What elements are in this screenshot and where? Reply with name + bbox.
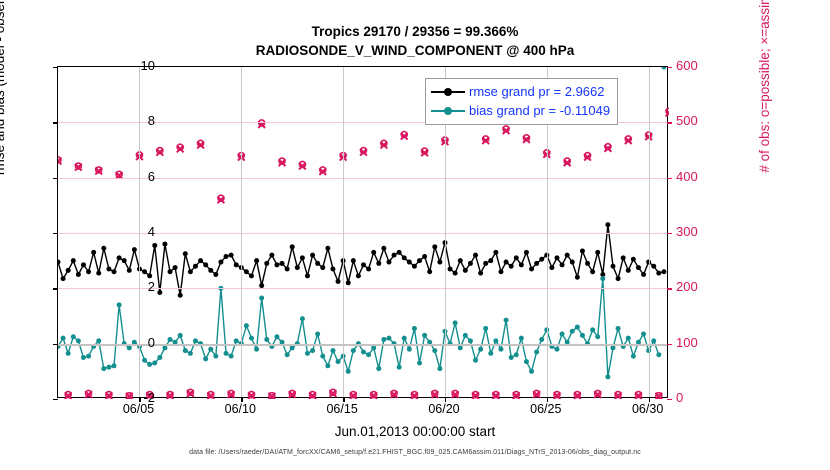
x-axis-tick-label: 06/25 [511, 402, 581, 416]
y-axis-right-tick-label: 400 [676, 169, 736, 184]
y-axis-left-tick [53, 344, 58, 345]
x-axis-tick-label: 06/30 [613, 402, 683, 416]
y-axis-right-tick-label: 600 [676, 58, 736, 73]
x-axis-tick-label: 06/15 [307, 402, 377, 416]
legend-swatch-rmse-icon [431, 85, 465, 99]
y-axis-right-tick-label: 0 [676, 390, 736, 405]
x-axis-title: Jun.01,2013 00:00:00 start [0, 424, 830, 439]
vertical-gridline [343, 67, 344, 397]
y-axis-left-tick-label: 10 [95, 58, 155, 73]
x-axis-tick-label: 06/20 [409, 402, 479, 416]
vertical-gridline [241, 67, 242, 397]
y-axis-right-tick-label: 300 [676, 224, 736, 239]
y-axis-left-title: rmse and bias (model - observation) [0, 0, 7, 232]
chart-legend[interactable]: rmse grand pr = 2.9662 bias grand pr = -… [425, 78, 618, 125]
x-axis-tick-label: 06/05 [103, 402, 173, 416]
y-axis-left-tick-label: 6 [95, 169, 155, 184]
y-axis-right-tick-label: 200 [676, 279, 736, 294]
chart-title: Tropics 29170 / 29356 = 99.366% RADIOSON… [0, 22, 830, 60]
y-axis-left-tick [53, 399, 58, 400]
y-axis-left-tick [53, 288, 58, 289]
y-axis-right-tick-label: 500 [676, 113, 736, 128]
legend-label-bias: bias grand pr = -0.11049 [469, 103, 610, 118]
vertical-gridline [649, 67, 650, 397]
legend-swatch-bias-icon [431, 104, 465, 118]
chart-title-line-1: Tropics 29170 / 29356 = 99.366% [0, 22, 830, 41]
y-axis-right-tick [667, 288, 672, 289]
y-axis-right-tick [667, 233, 672, 234]
figure-panel: Tropics 29170 / 29356 = 99.366% RADIOSON… [0, 0, 830, 470]
y-axis-right-tick [667, 344, 672, 345]
y-axis-left-tick-label: 4 [95, 224, 155, 239]
y-axis-right-title: # of obs: o=possible; ×=assimilated [757, 0, 772, 232]
y-axis-right-tick [667, 399, 672, 400]
y-axis-right-tick-label: 100 [676, 335, 736, 350]
y-axis-left-tick [53, 67, 58, 68]
x-axis-tick-label: 06/10 [205, 402, 275, 416]
y-axis-left-tick [53, 233, 58, 234]
data-file-footer: data file: /Users/raeder/DAI/ATM_forcXX/… [0, 449, 830, 456]
legend-item-bias[interactable]: bias grand pr = -0.11049 [431, 101, 610, 120]
y-axis-left-tick-label: 2 [95, 279, 155, 294]
legend-label-rmse: rmse grand pr = 2.9662 [469, 84, 605, 99]
y-axis-right-tick [667, 67, 672, 68]
series-obs-assimilated [58, 110, 669, 399]
y-axis-left-tick [53, 178, 58, 179]
y-axis-left-tick [53, 122, 58, 123]
y-axis-right-tick [667, 122, 672, 123]
y-axis-left-tick-label: 0 [95, 335, 155, 350]
legend-item-rmse[interactable]: rmse grand pr = 2.9662 [431, 82, 610, 101]
y-axis-right-tick [667, 178, 672, 179]
y-axis-left-tick-label: 8 [95, 113, 155, 128]
